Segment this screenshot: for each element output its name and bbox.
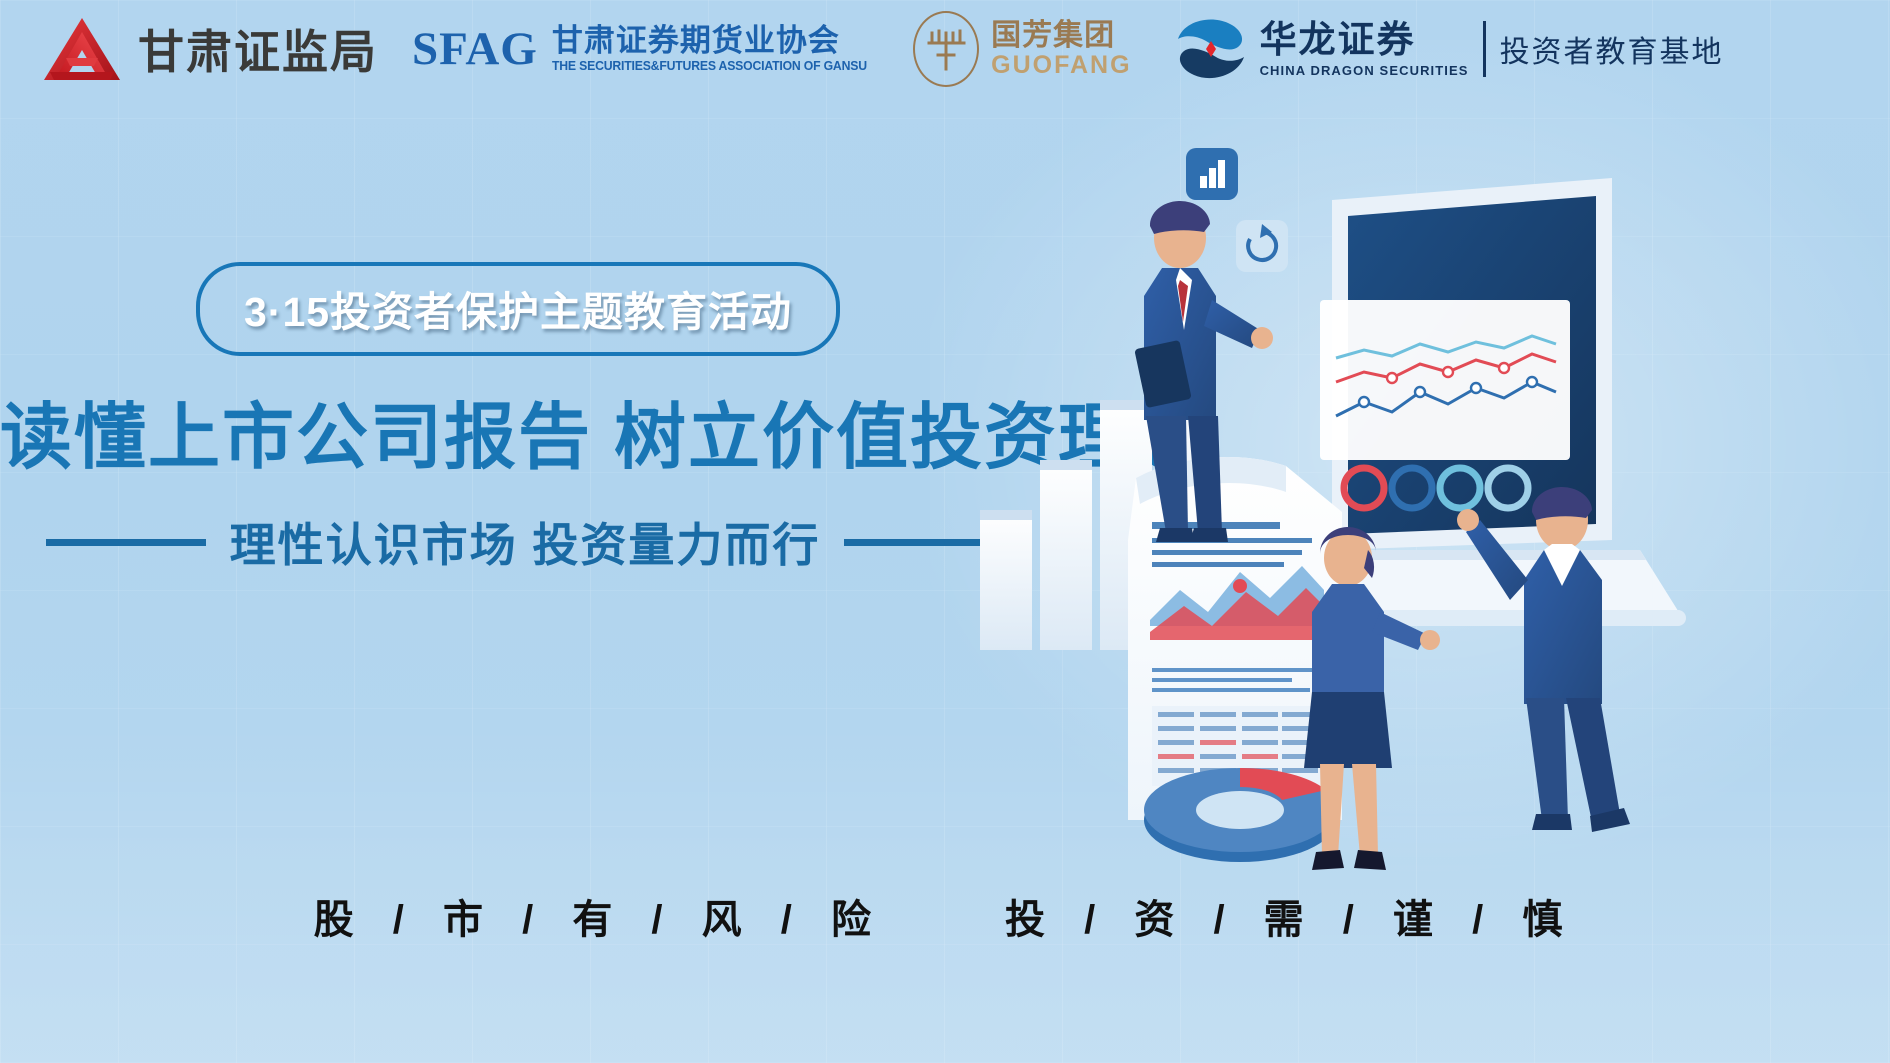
logo-guofang-name-en: GUOFANG <box>991 53 1131 78</box>
campaign-badge: 3·15投资者保护主题教育活动 <box>196 262 840 356</box>
logo-guofang: 国芳集团 GUOFANG <box>913 11 1131 87</box>
campaign-badge-text: 3·15投资者保护主题教育活动 <box>244 289 792 335</box>
refresh-badge-icon <box>1236 220 1288 272</box>
china-dragon-wave-mark-icon <box>1172 13 1250 85</box>
page-subtitle: 理性认识市场 投资量力而行 <box>230 509 821 575</box>
donut-chart <box>1144 768 1336 862</box>
subtitle-row: 理性认识市场 投资量力而行 <box>0 509 1050 575</box>
logo-sfag-name-cn: 甘肃证券期货业协会 <box>552 25 873 58</box>
logo-china-dragon: 华龙证券 CHINA DRAGON SECURITIES 投资者教育基地 <box>1172 13 1724 85</box>
page-title: 读懂上市公司报告 树立价值投资理念 <box>0 378 1050 483</box>
footer-slogans: 股 / 市 / 有 / 风 / 险 投 / 资 / 需 / 谨 / 慎 <box>0 887 1890 945</box>
logo-guofang-name-cn: 国芳集团 <box>991 20 1131 52</box>
logo-sfag-name-en: THE SECURITIES&FUTURES ASSOCIATION OF GA… <box>552 59 867 73</box>
slogan-right: 投 / 资 / 需 / 谨 / 慎 <box>1005 887 1576 945</box>
logo-csrc-gansu: 甘肃证监局 <box>40 14 378 84</box>
logo-divider <box>1483 21 1486 77</box>
logo-csrc-gansu-name: 甘肃证监局 <box>138 16 378 82</box>
logo-china-dragon-name-en: CHINA DRAGON SECURITIES <box>1260 63 1469 78</box>
rule-left <box>46 539 206 546</box>
logo-sfag-abbr: SFAG <box>412 22 538 76</box>
slogan-left: 股 / 市 / 有 / 风 / 险 <box>314 887 885 945</box>
poster-root: 甘肃证监局 SFAG 甘肃证券期货业协会 THE SECURITIES&FUTU… <box>0 0 1890 1063</box>
logo-bar: 甘肃证监局 SFAG 甘肃证券期货业协会 THE SECURITIES&FUTU… <box>0 0 1890 98</box>
hero-illustration <box>940 120 1890 880</box>
chart-badge-icon <box>1186 148 1238 200</box>
logo-sfag: SFAG 甘肃证券期货业协会 THE SECURITIES&FUTURES AS… <box>412 22 873 76</box>
logo-china-dragon-name-cn: 华龙证券 <box>1260 21 1469 58</box>
csrc-triangle-mark-icon <box>40 14 124 84</box>
guofang-circle-mark-icon <box>913 11 979 87</box>
main-copy: 3·15投资者保护主题教育活动 读懂上市公司报告 树立价值投资理念 理性认识市场… <box>0 262 1050 575</box>
logo-china-dragon-sub: 投资者教育基地 <box>1500 27 1724 71</box>
